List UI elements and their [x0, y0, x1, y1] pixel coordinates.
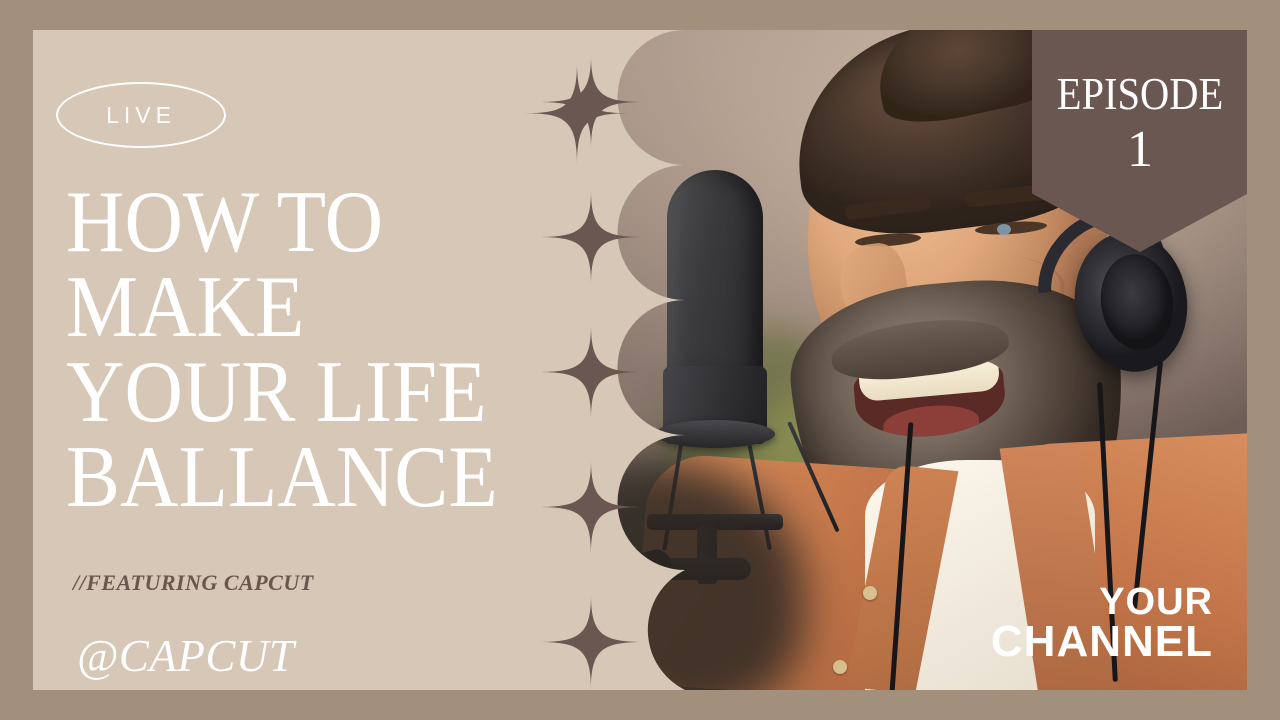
shock-mount-arm — [787, 421, 839, 532]
social-handle: @CAPCUT — [77, 630, 294, 682]
title-line-2: MAKE — [66, 265, 498, 350]
title-line-1: HOW TO — [66, 180, 498, 265]
shirt-button-2 — [833, 660, 847, 674]
thumbnail-canvas: LIVE HOW TO MAKE YOUR LIFE BALLANCE //FE… — [0, 0, 1280, 720]
title-line-4: BALLANCE — [66, 435, 498, 520]
title-line-3: YOUR LIFE — [66, 350, 498, 435]
channel-name: YOUR CHANNEL — [991, 582, 1213, 662]
channel-line-1: YOUR — [991, 582, 1213, 622]
microphone-capsule — [667, 170, 763, 380]
live-label: LIVE — [106, 102, 176, 129]
featuring-label: //FEATURING CAPCUT — [73, 570, 314, 596]
episode-number: 1 — [1032, 123, 1247, 177]
page-title: HOW TO MAKE YOUR LIFE BALLANCE — [66, 180, 536, 520]
eye-glint — [997, 224, 1011, 235]
inner-panel: LIVE HOW TO MAKE YOUR LIFE BALLANCE //FE… — [33, 30, 1247, 690]
microphone-ring — [655, 420, 775, 448]
live-badge: LIVE — [56, 82, 226, 148]
channel-line-2: CHANNEL — [991, 622, 1213, 662]
episode-label: EPISODE — [1045, 71, 1235, 117]
